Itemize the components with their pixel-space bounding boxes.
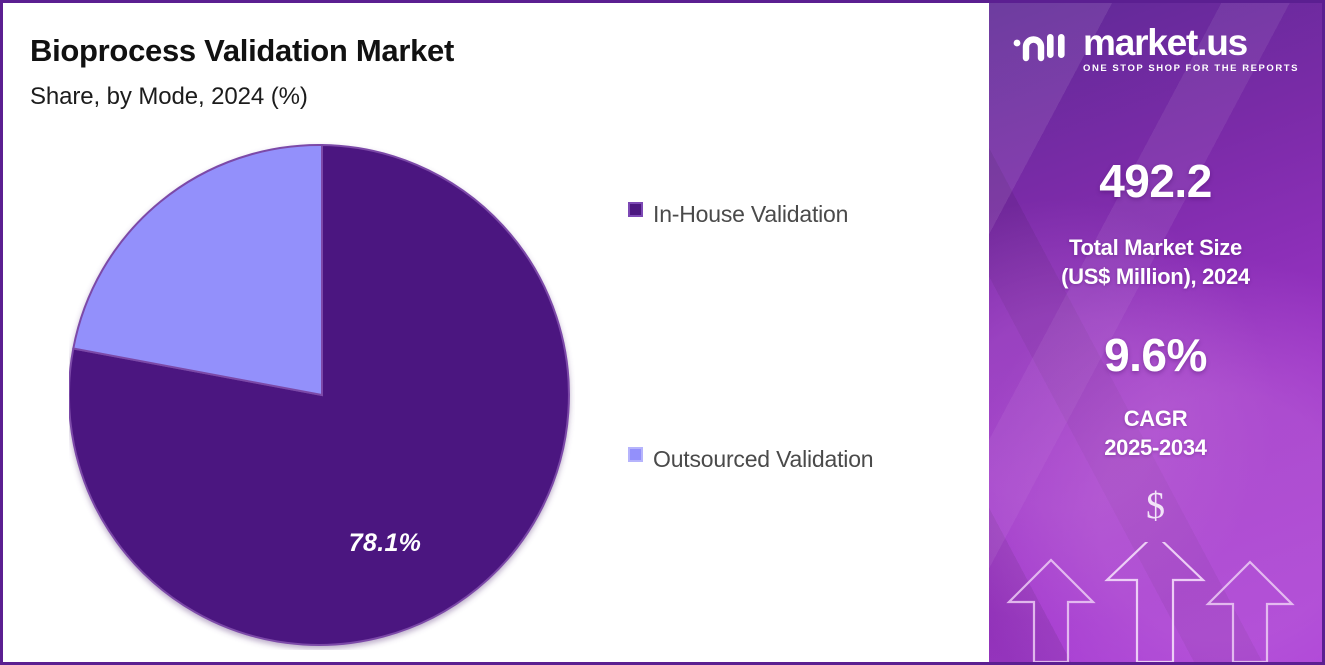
pie-chart-svg	[69, 142, 575, 650]
infographic-page: Bioprocess Validation Market Share, by M…	[0, 0, 1325, 665]
cagr-caption: CAGR 2025-2034	[989, 404, 1322, 462]
legend-label-outsourced: Outsourced Validation	[653, 441, 873, 478]
legend-label-in-house: In-House Validation	[653, 196, 848, 233]
legend-swatch-icon-outsourced	[628, 447, 643, 462]
up-arrows-icon	[989, 542, 1322, 662]
legend-item-outsourced[interactable]: Outsourced Validation	[628, 441, 958, 478]
stats-panel: market.us ONE STOP SHOP FOR THE REPORTS …	[989, 3, 1322, 662]
cagr-value: 9.6%	[989, 328, 1322, 382]
market-us-logo-icon	[1012, 27, 1074, 72]
chart-panel: Bioprocess Validation Market Share, by M…	[3, 3, 989, 662]
brand-logo[interactable]: market.us ONE STOP SHOP FOR THE REPORTS	[989, 24, 1322, 75]
cagr-caption-line1: CAGR	[1124, 406, 1188, 431]
market-size-value: 492.2	[989, 154, 1322, 208]
market-size-caption-line1: Total Market Size	[1069, 235, 1242, 260]
market-size-caption-line2: (US$ Million), 2024	[1061, 264, 1250, 289]
brand-tagline: ONE STOP SHOP FOR THE REPORTS	[1083, 63, 1299, 75]
pie-chart	[69, 142, 575, 650]
brand-text: market.us ONE STOP SHOP FOR THE REPORTS	[1083, 24, 1299, 75]
logo-mark-svg	[1012, 27, 1074, 67]
page-title: Bioprocess Validation Market	[30, 33, 454, 69]
dollar-sign-icon: $	[989, 484, 1322, 528]
legend-item-in-house[interactable]: In-House Validation	[628, 196, 958, 233]
market-size-caption: Total Market Size (US$ Million), 2024	[989, 233, 1322, 291]
legend-swatch-icon-in-house	[628, 202, 643, 217]
pie-slice-value-label: 78.1%	[333, 529, 437, 558]
cagr-caption-line2: 2025-2034	[1104, 435, 1207, 460]
page-subtitle: Share, by Mode, 2024 (%)	[30, 83, 308, 111]
brand-name: market.us	[1083, 24, 1299, 62]
legend: In-House Validation Outsourced Validatio…	[628, 196, 958, 478]
